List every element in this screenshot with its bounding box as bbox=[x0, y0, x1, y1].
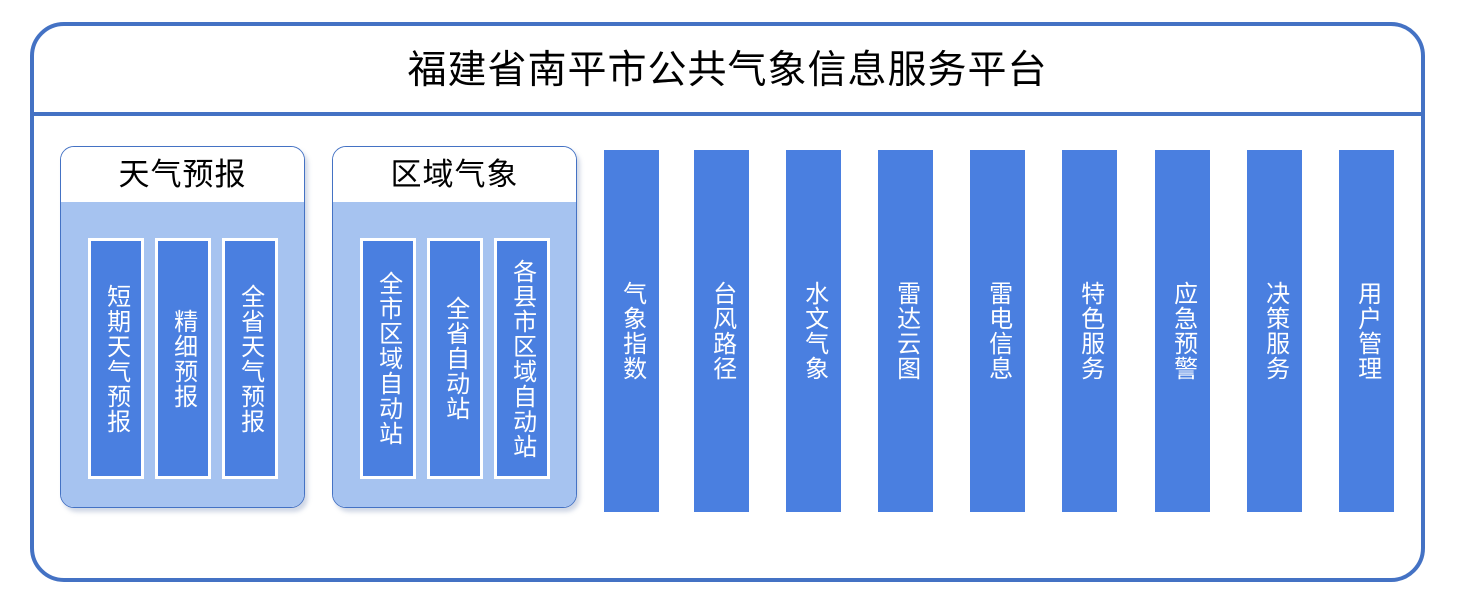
platform-title-bar: 福建省南平市公共气象信息服务平台 bbox=[34, 26, 1421, 114]
platform-diagram: 福建省南平市公共气象信息服务平台 天气预报 短期天气预报 精细预报 全省天气预报… bbox=[0, 0, 1458, 610]
module-decision-services[interactable]: 决策服务 bbox=[1247, 150, 1302, 512]
module-hydrological-meteorology[interactable]: 水文气象 bbox=[786, 150, 841, 512]
group-header-weather-forecast: 天气预报 bbox=[61, 147, 304, 202]
module-lightning-info[interactable]: 雷电信息 bbox=[970, 150, 1025, 512]
module-label: 精细预报 bbox=[168, 309, 196, 409]
module-weather-index[interactable]: 气象指数 bbox=[604, 150, 659, 512]
module-radar-cloud-map[interactable]: 雷达云图 bbox=[878, 150, 933, 512]
module-label: 各县市区域自动站 bbox=[507, 259, 535, 459]
module-label: 水文气象 bbox=[799, 281, 827, 381]
module-short-term-forecast[interactable]: 短期天气预报 bbox=[88, 238, 144, 479]
module-label: 雷电信息 bbox=[983, 281, 1011, 381]
module-fine-forecast[interactable]: 精细预报 bbox=[155, 238, 211, 479]
module-city-auto-station[interactable]: 全市区域自动站 bbox=[360, 238, 416, 479]
title-divider bbox=[34, 112, 1421, 116]
page-title: 福建省南平市公共气象信息服务平台 bbox=[407, 51, 1047, 90]
module-label: 气象指数 bbox=[617, 281, 645, 381]
module-label: 雷达云图 bbox=[891, 281, 919, 381]
module-user-management[interactable]: 用户管理 bbox=[1339, 150, 1394, 512]
module-label: 台风路径 bbox=[707, 281, 735, 381]
group-weather-forecast[interactable]: 天气预报 短期天气预报 精细预报 全省天气预报 bbox=[60, 146, 305, 508]
module-label: 用户管理 bbox=[1352, 281, 1380, 381]
module-label: 特色服务 bbox=[1075, 281, 1103, 381]
module-label: 决策服务 bbox=[1260, 281, 1288, 381]
module-featured-services[interactable]: 特色服务 bbox=[1062, 150, 1117, 512]
module-province-auto-station[interactable]: 全省自动站 bbox=[427, 238, 483, 479]
group-title-label: 天气预报 bbox=[119, 159, 247, 190]
module-label: 短期天气预报 bbox=[101, 284, 129, 434]
group-title-label: 区域气象 bbox=[391, 159, 519, 190]
module-label: 全省天气预报 bbox=[235, 284, 263, 434]
group-body-regional-meteorology: 全市区域自动站 全省自动站 各县市区域自动站 bbox=[333, 202, 576, 507]
module-label: 全市区域自动站 bbox=[373, 271, 401, 446]
group-header-regional-meteorology: 区域气象 bbox=[333, 147, 576, 202]
module-label: 应急预警 bbox=[1168, 281, 1196, 381]
module-county-auto-station[interactable]: 各县市区域自动站 bbox=[494, 238, 550, 479]
group-regional-meteorology[interactable]: 区域气象 全市区域自动站 全省自动站 各县市区域自动站 bbox=[332, 146, 577, 508]
group-body-weather-forecast: 短期天气预报 精细预报 全省天气预报 bbox=[61, 202, 304, 507]
module-typhoon-path[interactable]: 台风路径 bbox=[694, 150, 749, 512]
module-label: 全省自动站 bbox=[440, 296, 468, 421]
module-province-forecast[interactable]: 全省天气预报 bbox=[222, 238, 278, 479]
module-emergency-warning[interactable]: 应急预警 bbox=[1155, 150, 1210, 512]
